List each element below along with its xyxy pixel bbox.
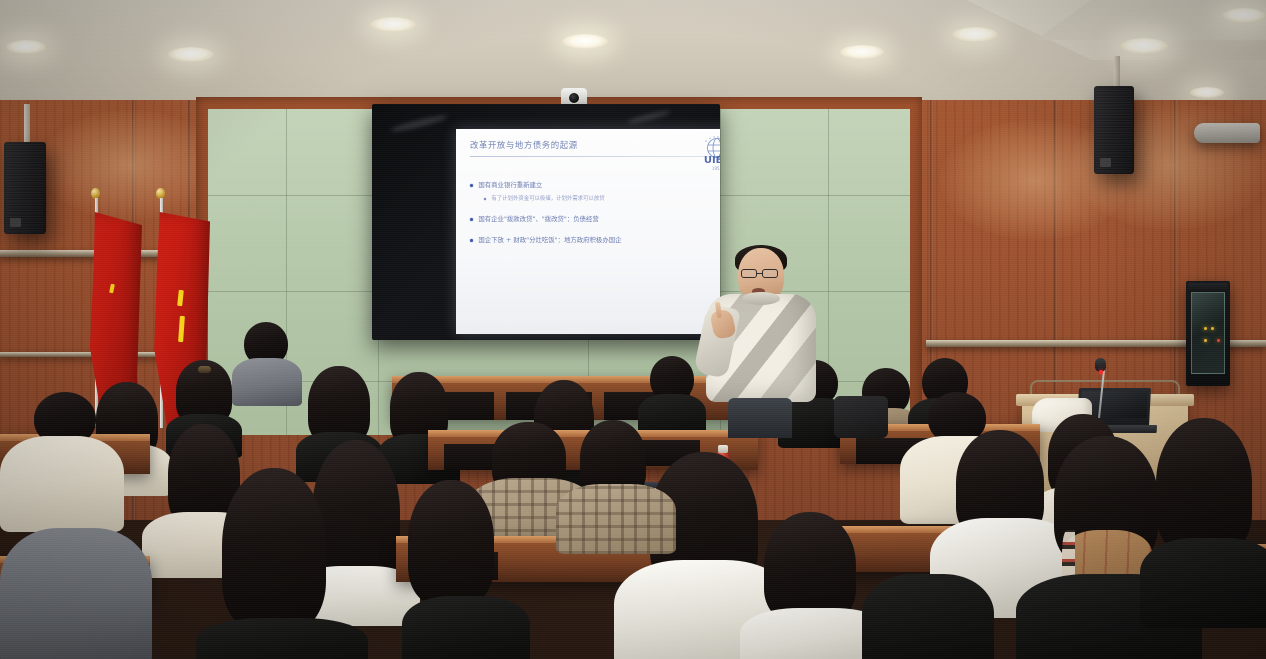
audience-member xyxy=(232,322,302,400)
audience-member xyxy=(862,560,992,659)
slide-bullet-text: 国有企业"拨款改贷"、"拨改贷"：负债经营 xyxy=(478,215,598,224)
rack-top-panel xyxy=(1188,283,1228,292)
torso xyxy=(0,528,152,659)
torso xyxy=(1140,538,1266,628)
torso xyxy=(196,618,368,659)
presenter-glasses-left xyxy=(741,269,757,278)
slide-bullet-list: 国有商业银行重新建立 有了计划外资金可以吸储，计划外需求可以放贷 国有企业"拨款… xyxy=(470,181,720,245)
bullet-dot-icon xyxy=(470,218,473,221)
speaker-brand-icon xyxy=(10,218,21,227)
rack-status-led xyxy=(1204,327,1207,330)
downlight xyxy=(1190,87,1224,98)
torso xyxy=(556,484,676,554)
rack-status-led xyxy=(1211,327,1214,330)
hair xyxy=(222,468,326,630)
downlight xyxy=(1222,8,1266,23)
slide-bullet: 国有商业银行重新建立 xyxy=(470,181,720,190)
ceiling-speaker-left xyxy=(4,142,46,234)
presenter-collar xyxy=(742,292,780,305)
sub-bullet-dot-icon xyxy=(484,198,486,200)
party-emblem-mark xyxy=(177,290,184,306)
wall-mounted-display[interactable]: 改革开放与地方债务的起源 UIBE 1951 xyxy=(372,104,720,340)
av-equipment-rack[interactable] xyxy=(1186,281,1230,386)
hair-tie xyxy=(198,366,211,373)
slide-bullet: 国有企业"拨款改贷"、"拨改贷"：负债经营 xyxy=(470,215,720,224)
speaker-brand-icon xyxy=(1100,158,1111,167)
downlight xyxy=(370,17,416,32)
downlight xyxy=(6,40,46,54)
downlight xyxy=(168,47,214,62)
presenter-glasses-bridge xyxy=(757,273,762,274)
slide-bullet: 国企下放 + 财政"分灶吃饭"：地方政府积极办国企 xyxy=(470,236,720,245)
audience-member xyxy=(196,468,368,659)
torso xyxy=(0,436,124,532)
audience-member xyxy=(0,528,148,659)
party-emblem-mark xyxy=(178,316,185,342)
slide-sub-bullet: 有了计划外资金可以吸储，计划外需求可以放贷 xyxy=(484,195,720,204)
rack-status-led xyxy=(1217,339,1220,342)
camera-lens-icon xyxy=(568,92,580,104)
svg-text:UIBE: UIBE xyxy=(704,155,720,166)
speaker-bracket-right xyxy=(1114,56,1120,90)
projector xyxy=(1194,123,1260,143)
slide-bullet-text: 国有商业银行重新建立 xyxy=(478,181,542,190)
flag-star xyxy=(109,284,115,294)
downlight xyxy=(840,45,884,59)
hair xyxy=(408,480,494,604)
torso xyxy=(232,358,302,406)
screen-glare xyxy=(390,113,448,134)
speaker-bracket-left xyxy=(24,104,30,146)
hair xyxy=(764,512,856,622)
ceiling-speaker-right xyxy=(1094,86,1134,174)
backpack xyxy=(834,396,888,438)
audience-member xyxy=(1140,418,1266,618)
rack-glass-door[interactable] xyxy=(1191,292,1225,374)
rack-status-led xyxy=(1204,339,1207,342)
presenter-glasses-right xyxy=(762,269,778,278)
downlight xyxy=(952,27,998,42)
bullet-dot-icon xyxy=(470,239,473,242)
presenter xyxy=(700,248,820,433)
audience-member xyxy=(556,420,676,540)
downlight xyxy=(1120,38,1168,54)
torso xyxy=(402,596,530,659)
display-panel: 改革开放与地方债务的起源 UIBE 1951 xyxy=(372,104,720,340)
slide-title: 改革开放与地方债务的起源 xyxy=(470,139,720,151)
slide-sub-bullet-text: 有了计划外资金可以吸储，计划外需求可以放贷 xyxy=(491,195,604,204)
microphone-indicator-led xyxy=(1099,370,1103,374)
presentation-slide: 改革开放与地方债务的起源 UIBE 1951 xyxy=(456,129,720,334)
audience-member xyxy=(402,480,530,659)
lecture-hall-photo: 改革开放与地方债务的起源 UIBE 1951 xyxy=(0,0,1266,659)
hair xyxy=(1156,418,1252,554)
wall-light-spill xyxy=(40,110,220,220)
bullet-dot-icon xyxy=(470,184,473,187)
audience-member xyxy=(0,392,120,522)
uibe-logo-icon: UIBE 1951 xyxy=(697,135,720,173)
screen-glare xyxy=(627,109,671,125)
slide-bullet-text: 国企下放 + 财政"分灶吃饭"：地方政府积极办国企 xyxy=(478,236,621,245)
torso xyxy=(862,574,994,659)
presenter-trousers xyxy=(728,398,792,438)
downlight xyxy=(562,34,608,49)
slide-title-rule xyxy=(470,156,712,157)
svg-text:1951: 1951 xyxy=(712,166,720,171)
